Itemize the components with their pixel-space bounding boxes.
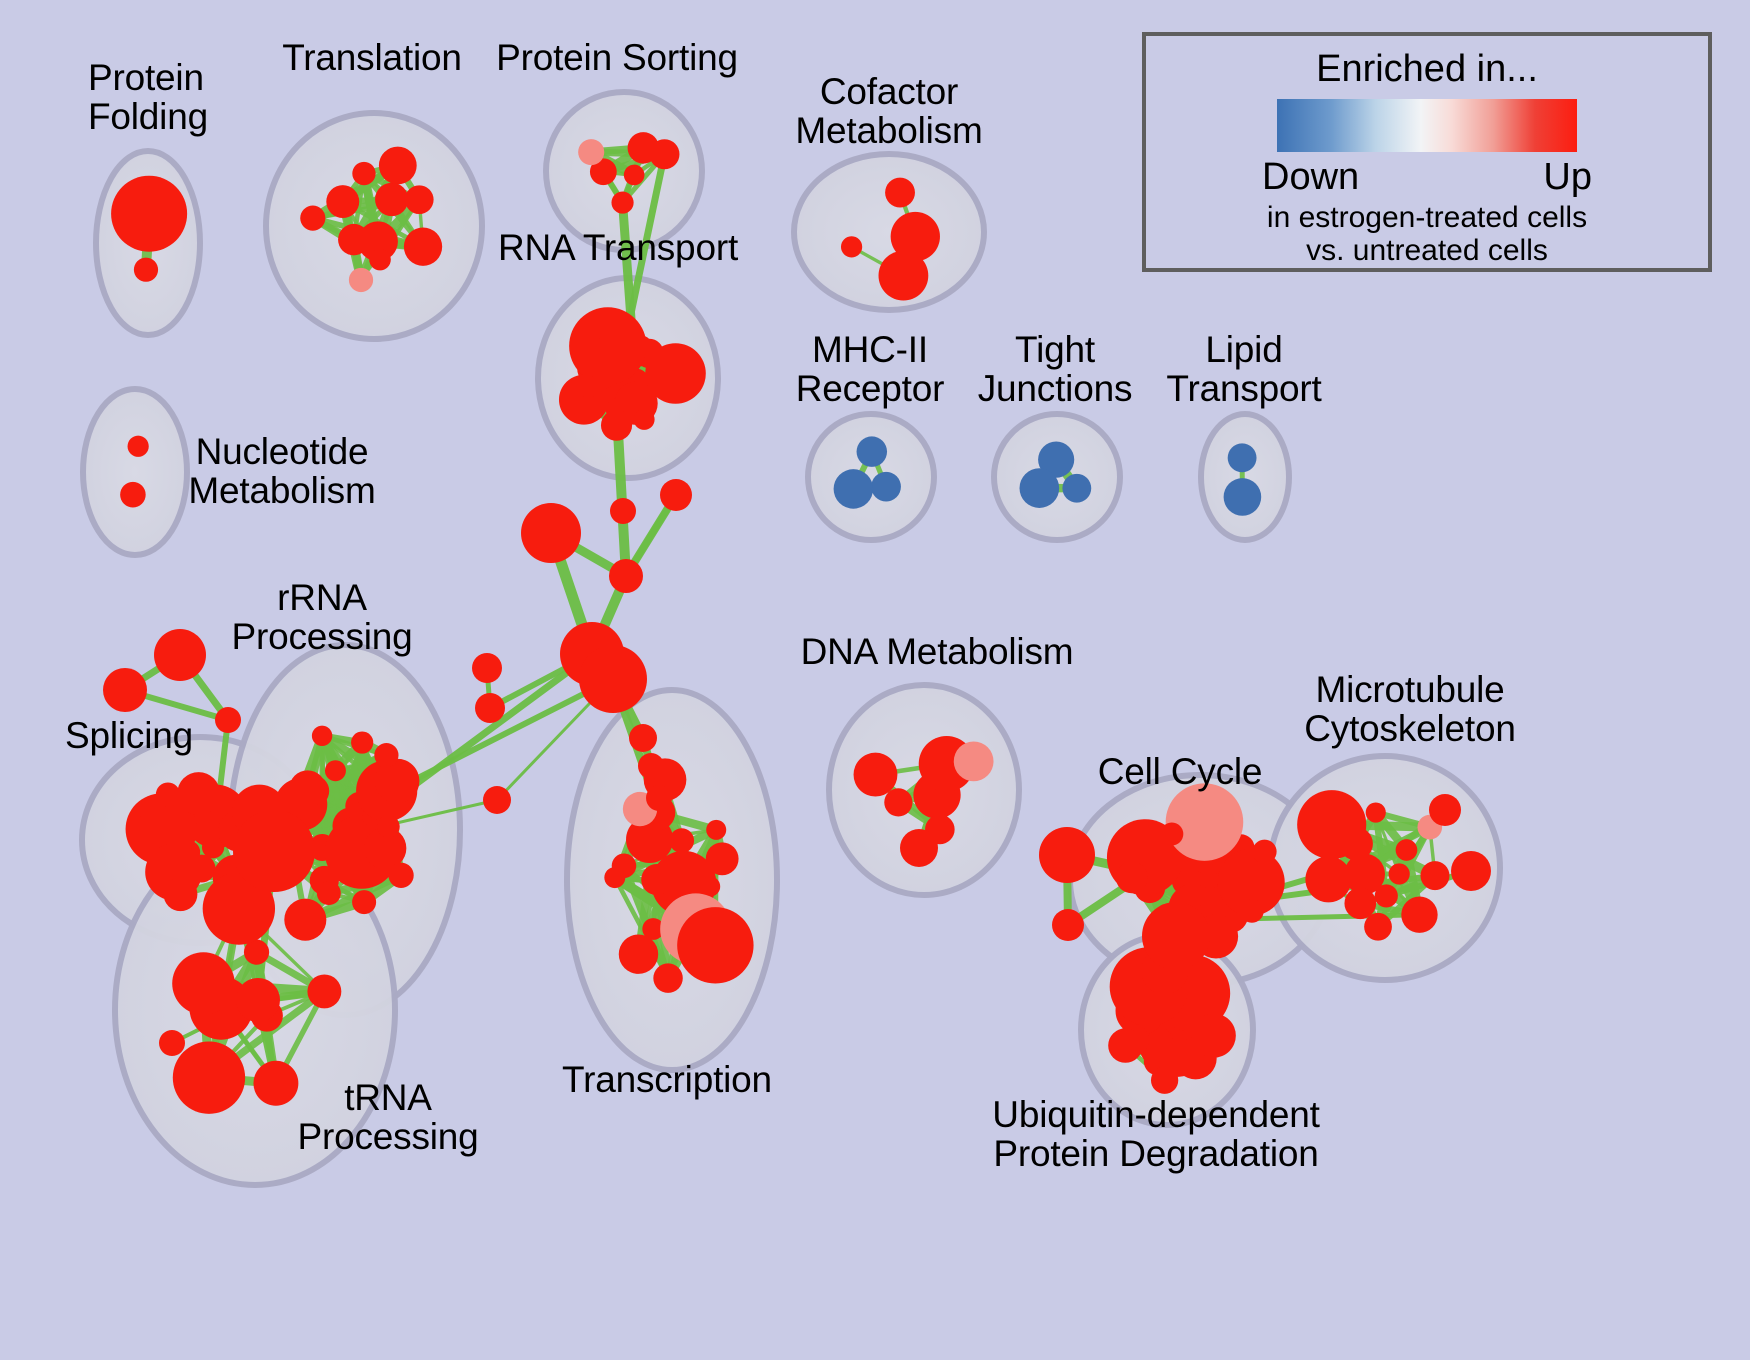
network-node (317, 881, 341, 905)
network-node (1062, 474, 1091, 503)
network-node (374, 743, 398, 767)
network-node (578, 139, 604, 165)
network-node (349, 268, 373, 292)
network-node (300, 206, 325, 231)
network-node (857, 436, 887, 466)
network-node (601, 410, 632, 441)
network-node (1166, 783, 1244, 861)
network-node (706, 820, 726, 840)
cluster-hull-mhc-ii-receptor (808, 414, 934, 540)
network-node (1192, 1014, 1236, 1058)
network-node (653, 963, 682, 992)
network-node (233, 810, 315, 892)
network-node (369, 249, 391, 271)
network-node (638, 753, 664, 779)
network-node (885, 178, 915, 208)
cluster-label-protein-folding: Protein Folding (88, 58, 208, 136)
network-node (841, 236, 862, 257)
network-node (1142, 902, 1210, 970)
network-node (624, 165, 645, 186)
network-node (871, 472, 901, 502)
network-node (352, 162, 375, 185)
network-node (1224, 478, 1262, 516)
network-node (177, 772, 220, 815)
legend-box: Enriched in... Down Up in estrogen-treat… (1142, 32, 1712, 272)
network-node (325, 760, 346, 781)
color-ramp (1277, 99, 1577, 152)
network-node (1364, 913, 1392, 941)
network-node (1252, 840, 1276, 864)
network-node (128, 436, 149, 457)
cluster-label-nucleotide-metabolism: Nucleotide Metabolism (188, 432, 375, 510)
network-node (645, 343, 706, 404)
network-node (610, 498, 636, 524)
network-node (375, 183, 408, 216)
network-node (1020, 468, 1060, 508)
network-node (1240, 899, 1264, 923)
network-node (164, 877, 198, 911)
cluster-label-transcription: Transcription (562, 1060, 772, 1099)
network-node (1420, 861, 1449, 890)
legend-title: Enriched in... (1316, 48, 1538, 91)
cluster-label-tight-junctions: Tight Junctions (978, 330, 1133, 408)
network-node (884, 788, 912, 816)
network-node (159, 1030, 185, 1056)
network-node (312, 726, 332, 746)
network-node (834, 469, 874, 509)
network-node (954, 741, 994, 781)
cluster-label-lipid-transport: Lipid Transport (1166, 330, 1321, 408)
cluster-label-mhc-ii-receptor: MHC-II Receptor (796, 330, 945, 408)
network-node (706, 842, 739, 875)
network-node (660, 479, 692, 511)
network-node (236, 978, 280, 1022)
cluster-label-translation: Translation (282, 38, 461, 77)
network-node (619, 934, 658, 973)
network-node (1297, 790, 1366, 859)
network-node (173, 1041, 245, 1113)
network-node (172, 952, 235, 1015)
network-node (103, 668, 147, 712)
network-node (253, 1061, 298, 1106)
network-node (649, 139, 679, 169)
cluster-label-ubiquitin-protein-degradation: Ubiquitin-dependent Protein Degradation (992, 1095, 1319, 1173)
network-node (677, 907, 753, 983)
cluster-label-cofactor-metabolism: Cofactor Metabolism (795, 72, 982, 150)
network-node (611, 192, 633, 214)
network-node (1375, 884, 1398, 907)
network-node (338, 224, 369, 255)
network-node (284, 899, 326, 941)
network-node (111, 176, 187, 252)
cluster-label-dna-metabolism: DNA Metabolism (801, 632, 1074, 671)
network-node (609, 559, 643, 593)
network-node (1366, 802, 1386, 822)
legend-caption-line1: in estrogen-treated cells (1267, 201, 1587, 235)
network-node (154, 629, 206, 681)
network-node (1052, 909, 1084, 941)
network-node (475, 693, 505, 723)
cluster-label-protein-sorting: Protein Sorting (496, 38, 738, 77)
network-node (629, 724, 657, 752)
network-node (351, 731, 373, 753)
legend-caption: in estrogen-treated cells vs. untreated … (1267, 201, 1587, 268)
network-node (1151, 1067, 1178, 1094)
network-node (900, 829, 938, 867)
network-node (521, 503, 581, 563)
network-node (1451, 851, 1491, 891)
network-node (134, 258, 158, 282)
network-node (1429, 794, 1461, 826)
legend-endpoints: Down Up (1262, 156, 1592, 199)
cluster-label-rna-transport: RNA Transport (498, 228, 738, 267)
cluster-label-cell-cycle: Cell Cycle (1098, 752, 1263, 791)
network-node (472, 653, 502, 683)
network-node (634, 409, 655, 430)
network-node (1228, 443, 1257, 472)
cluster-label-trna-processing: tRNA Processing (297, 1078, 478, 1156)
network-node (156, 783, 180, 807)
network-node (1116, 861, 1148, 893)
network-node (879, 251, 929, 301)
network-node (1160, 822, 1183, 845)
cluster-label-microtubule-cytoskeleton: Microtubule Cytoskeleton (1304, 670, 1516, 748)
network-node (1396, 839, 1418, 861)
network-node (289, 770, 326, 807)
network-node (1305, 856, 1351, 902)
enrichment-map-figure: Protein FoldingTranslationProtein Sortin… (0, 0, 1750, 1360)
network-node (352, 890, 376, 914)
network-node (405, 185, 434, 214)
network-node (377, 815, 400, 838)
network-node (1401, 897, 1437, 933)
network-node (1389, 863, 1410, 884)
network-node (854, 753, 898, 797)
network-node (326, 185, 359, 218)
cluster-hull-lipid-transport (1201, 414, 1289, 540)
network-node (1039, 827, 1095, 883)
network-node (379, 147, 417, 185)
network-node (700, 876, 720, 896)
network-node (134, 815, 157, 838)
network-node (593, 316, 617, 340)
network-node (1344, 887, 1376, 919)
network-node (404, 228, 442, 266)
network-node (215, 707, 241, 733)
legend-down-label: Down (1262, 156, 1359, 199)
network-node (307, 974, 341, 1008)
cluster-label-splicing: Splicing (65, 716, 193, 755)
network-node (388, 863, 413, 888)
network-node (646, 785, 672, 811)
cluster-label-rrna-processing: rRNA Processing (231, 578, 412, 656)
network-node (575, 395, 601, 421)
legend-caption-line2: vs. untreated cells (1267, 234, 1587, 268)
network-node (579, 645, 647, 713)
network-node (604, 867, 625, 888)
legend-up-label: Up (1543, 156, 1592, 199)
network-node (641, 864, 672, 895)
network-node (120, 482, 146, 508)
network-node (483, 786, 511, 814)
cluster-hull-nucleotide-metabolism (83, 389, 187, 555)
network-node (1108, 1028, 1142, 1062)
